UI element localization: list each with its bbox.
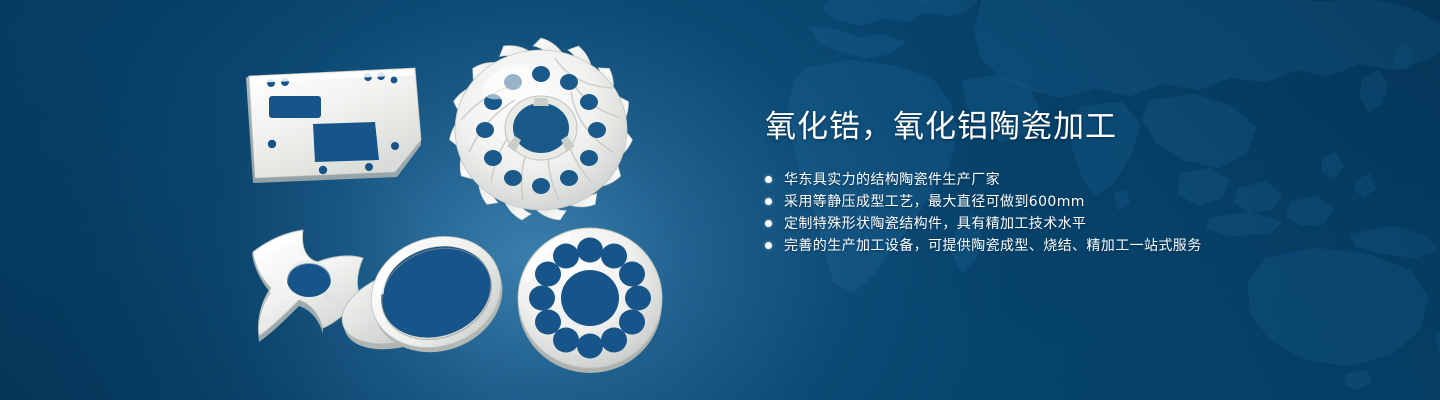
list-item-label: 采用等静压成型工艺，最大直径可做到600mm bbox=[784, 195, 1085, 209]
list-item: 完善的生产加工设备，可提供陶瓷成型、烧结、精加工一站式服务 bbox=[765, 239, 1385, 253]
bullet-dot-icon bbox=[765, 220, 772, 227]
bullet-dot-icon bbox=[765, 198, 772, 205]
list-item: 采用等静压成型工艺，最大直径可做到600mm bbox=[765, 195, 1385, 209]
list-item: 华东具实力的结构陶瓷件生产厂家 bbox=[765, 173, 1385, 187]
list-item: 定制特殊形状陶瓷结构件，具有精加工技术水平 bbox=[765, 217, 1385, 231]
page-title: 氧化锆，氧化铝陶瓷加工 bbox=[765, 108, 1385, 147]
product-image-group bbox=[215, 38, 715, 378]
ceramic-ring bbox=[340, 220, 520, 370]
list-item-label: 定制特殊形状陶瓷结构件，具有精加工技术水平 bbox=[784, 217, 1086, 231]
ceramic-plate bbox=[245, 66, 425, 182]
copy-block: 氧化锆，氧化铝陶瓷加工 华东具实力的结构陶瓷件生产厂家 采用等静压成型工艺，最大… bbox=[765, 108, 1385, 253]
bullet-dot-icon bbox=[765, 242, 772, 249]
list-item-label: 华东具实力的结构陶瓷件生产厂家 bbox=[784, 173, 1000, 187]
bullet-dot-icon bbox=[765, 176, 772, 183]
list-item-label: 完善的生产加工设备，可提供陶瓷成型、烧结、精加工一站式服务 bbox=[784, 239, 1202, 253]
feature-list: 华东具实力的结构陶瓷件生产厂家 采用等静压成型工艺，最大直径可做到600mm 定… bbox=[765, 173, 1385, 253]
ceramic-impeller bbox=[443, 38, 639, 226]
ceramic-disc bbox=[510, 220, 670, 376]
hero-banner: 氧化锆，氧化铝陶瓷加工 华东具实力的结构陶瓷件生产厂家 采用等静压成型工艺，最大… bbox=[0, 0, 1440, 400]
